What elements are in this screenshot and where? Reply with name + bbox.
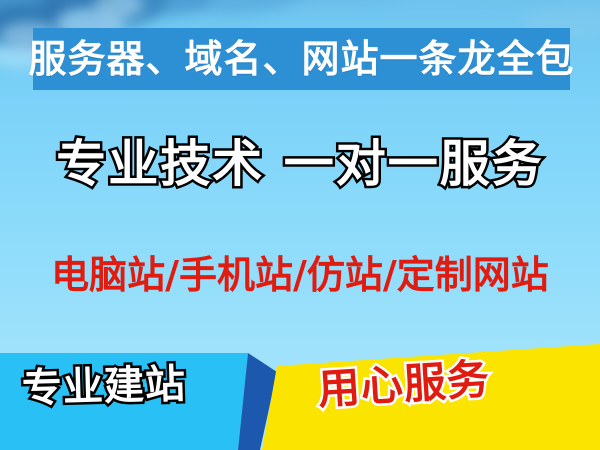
cloud-shape-icon (40, 0, 170, 30)
headline-text: 服务器、域名、网站一条龙全包 (29, 40, 575, 78)
cloud-shape-icon (95, 0, 143, 18)
service-list: 电脑站/手机站/仿站/定制网站 (0, 256, 600, 294)
headline-bar: 服务器、域名、网站一条龙全包 (33, 28, 570, 90)
service-list-text: 电脑站/手机站/仿站/定制网站 (51, 256, 549, 294)
cloud-shape-icon (108, 0, 218, 16)
ribbon-left-label: 专业建站 (21, 364, 186, 409)
promo-banner: 服务器、域名、网站一条龙全包 专业技术 一对一服务 电脑站/手机站/仿站/定制网… (0, 0, 600, 450)
bottom-ribbon: 专业建站 用心服务 (0, 335, 600, 450)
ribbon-right-label: 用心服务 (317, 358, 491, 411)
cloud-shape-icon (150, 0, 310, 14)
main-slogan: 专业技术 一对一服务 (0, 139, 600, 189)
main-slogan-text: 专业技术 一对一服务 (56, 139, 543, 189)
cloud-shape-icon (230, 0, 430, 4)
